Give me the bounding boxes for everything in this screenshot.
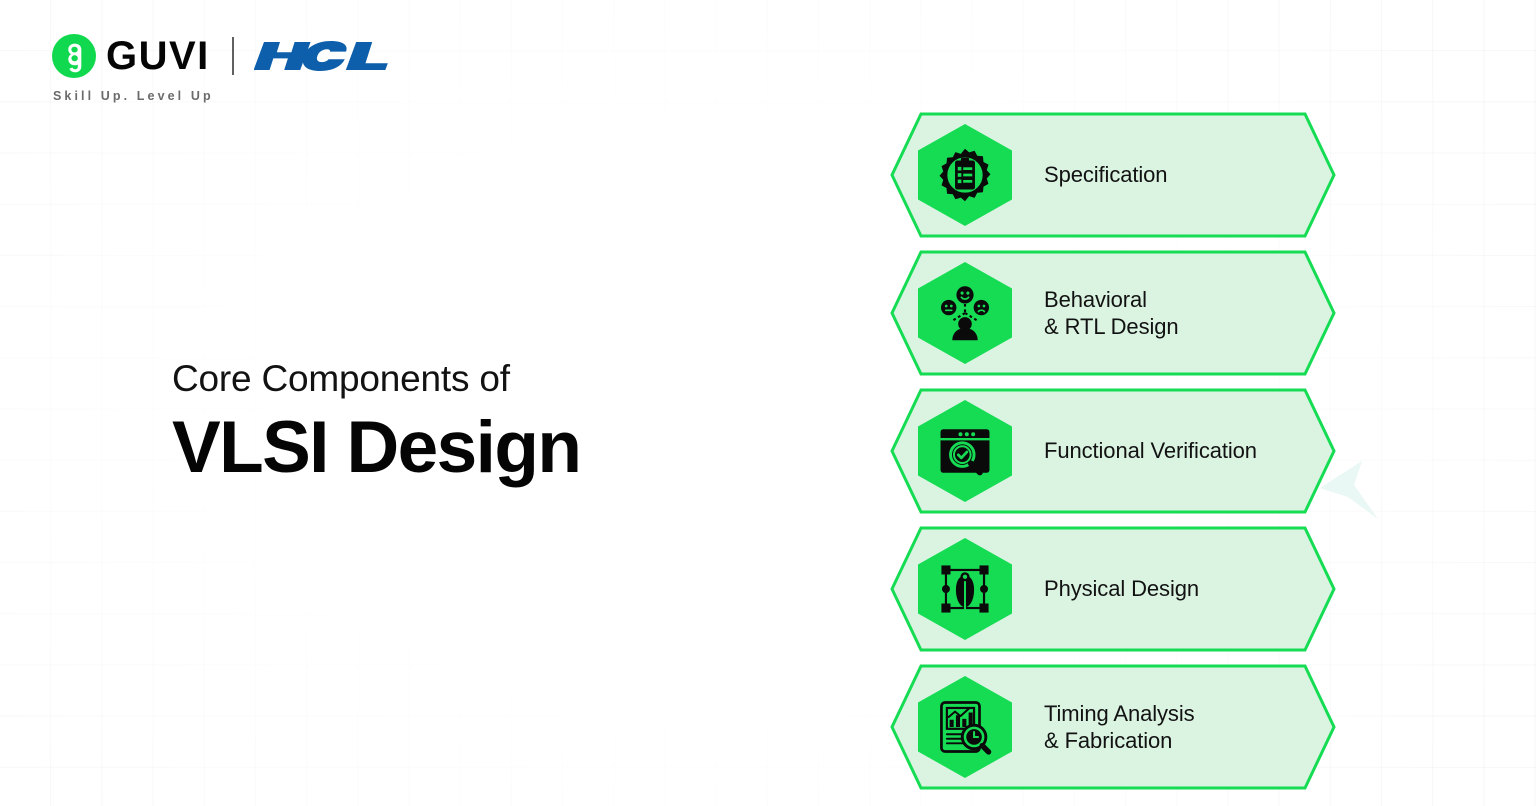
vector-selection-icon (935, 559, 995, 619)
guvi-wordmark: GUVI (106, 36, 210, 76)
list-item[interactable]: Timing Analysis & Fabrication (890, 664, 1336, 790)
guvi-tagline: Skill Up. Level Up (53, 89, 434, 103)
card-label: Specification (1044, 112, 1167, 238)
list-item[interactable]: Behavioral & RTL Design (890, 250, 1336, 376)
card-label: Functional Verification (1044, 388, 1257, 514)
card-label-line-1: Physical Design (1044, 576, 1199, 602)
title-line-2: VLSI Design (172, 407, 580, 489)
guvi-logo-icon (52, 34, 96, 78)
list-item[interactable]: Specification (890, 112, 1336, 238)
card-label: Behavioral & RTL Design (1044, 250, 1179, 376)
hcl-logo-icon (254, 36, 434, 76)
brand-logo-bar: GUVI Skill Up. Level Up (52, 28, 434, 103)
list-item[interactable]: Functional Verification (890, 388, 1336, 514)
card-label-line-1: Behavioral (1044, 287, 1179, 313)
list-item[interactable]: Physical Design (890, 526, 1336, 652)
card-label-line-1: Specification (1044, 162, 1167, 188)
clipboard-gear-icon (935, 145, 995, 205)
card-label: Timing Analysis & Fabrication (1044, 664, 1195, 790)
card-label-line-2: & Fabrication (1044, 728, 1195, 754)
chart-clock-search-icon (935, 697, 995, 757)
title-line-1: Core Components of (172, 358, 580, 401)
page-title: Core Components of VLSI Design (172, 358, 580, 488)
card-label: Physical Design (1044, 526, 1199, 652)
logo-divider (232, 37, 234, 75)
browser-search-check-icon (935, 421, 995, 481)
logo-row: GUVI (52, 28, 434, 84)
card-label-line-1: Timing Analysis (1044, 701, 1195, 727)
card-label-line-1: Functional Verification (1044, 438, 1257, 464)
components-list: Specification (890, 112, 1336, 790)
card-label-line-2: & RTL Design (1044, 314, 1179, 340)
people-emotions-icon (935, 283, 995, 343)
